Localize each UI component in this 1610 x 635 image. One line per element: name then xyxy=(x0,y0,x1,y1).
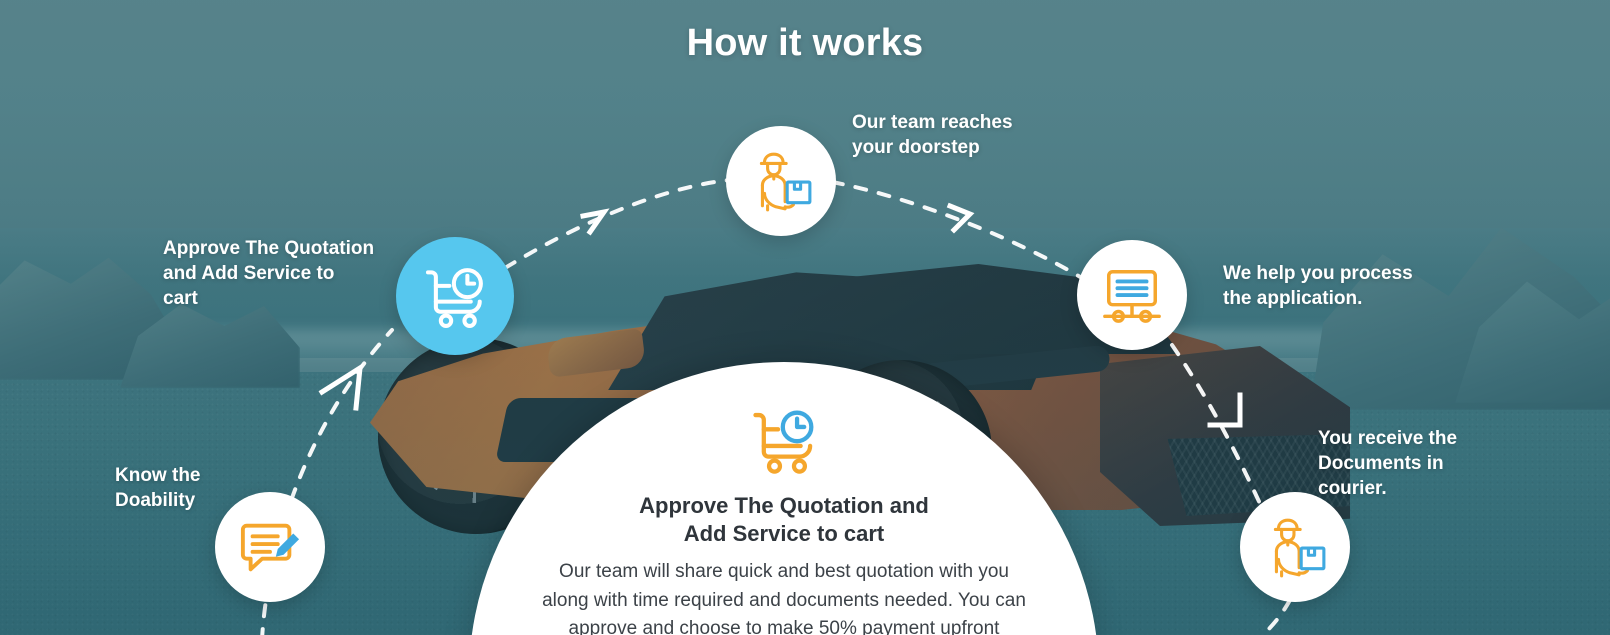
step-node-team-reaches-doorstep[interactable] xyxy=(726,126,836,236)
detail-card-icon-wrap xyxy=(469,394,1099,486)
how-it-works-section: How it works Know the Doability Approve … xyxy=(0,0,1610,635)
step-node-receive-documents[interactable] xyxy=(1240,492,1350,602)
step-label-team-reaches-doorstep: Our team reaches your doorstep xyxy=(852,110,1082,160)
cart-clock-icon xyxy=(746,402,822,478)
presentation-board-icon xyxy=(1101,264,1163,326)
chat-edit-icon xyxy=(239,516,301,578)
step-label-process-application: We help you process the application. xyxy=(1223,261,1483,311)
step-detail-card: Approve The Quotation and Add Service to… xyxy=(469,362,1099,635)
delivery-person-icon xyxy=(1262,514,1328,580)
cart-clock-icon xyxy=(419,260,491,332)
detail-card-body: Our team will share quick and best quota… xyxy=(534,558,1034,635)
step-node-know-the-doability[interactable] xyxy=(215,492,325,602)
step-label-approve-quotation: Approve The Quotation and Add Service to… xyxy=(163,236,413,311)
page-title: How it works xyxy=(0,22,1610,65)
delivery-person-icon xyxy=(748,148,814,214)
step-label-receive-documents: You receive the Documents in courier. xyxy=(1318,426,1548,501)
detail-card-title: Approve The Quotation and Add Service to… xyxy=(469,492,1099,548)
step-node-approve-quotation[interactable] xyxy=(396,237,514,355)
step-node-process-application[interactable] xyxy=(1077,240,1187,350)
